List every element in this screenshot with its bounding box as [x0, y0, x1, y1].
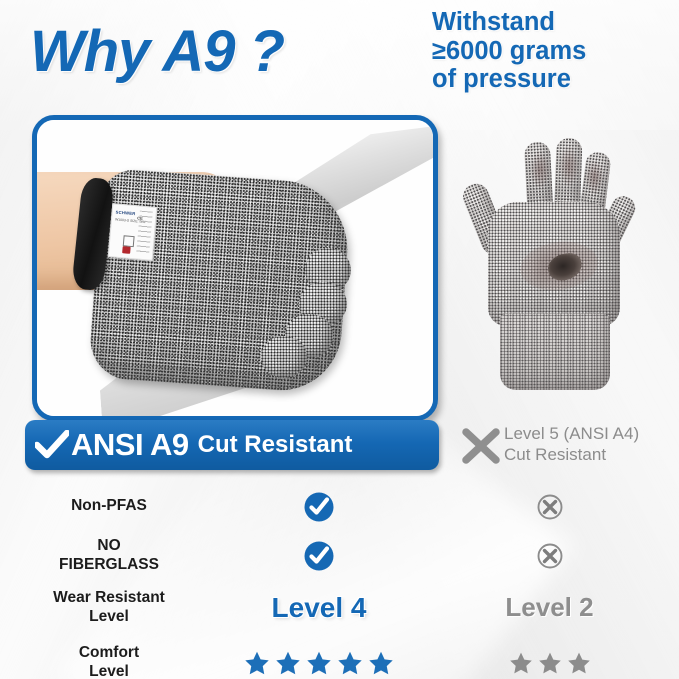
- wear-level-ours: Level 4: [272, 592, 367, 624]
- row-label: Non-PFAS: [0, 497, 218, 515]
- competitor-badge: Level 5 (ANSI A4) Cut Resistant: [460, 424, 639, 467]
- star-icon: [538, 651, 562, 675]
- certification-mark-icon: [122, 246, 131, 254]
- row-value-ours: [218, 491, 420, 523]
- withstand-line-2: ≥6000 grams: [432, 37, 678, 66]
- withstand-line-3: of pressure: [432, 65, 678, 94]
- infographic-root: Why A9 ? Withstand ≥6000 grams of pressu…: [0, 0, 679, 679]
- row-value-theirs: Level 2: [420, 592, 679, 623]
- withstand-heading: Withstand ≥6000 grams of pressure: [432, 8, 678, 94]
- row-value-ours: Level 4: [218, 592, 420, 624]
- check-icon: [35, 430, 69, 460]
- check-circle-icon: [303, 491, 335, 523]
- table-row: Wear Resistant Level Level 4 Level 2: [0, 580, 679, 635]
- row-value-ours: [218, 650, 420, 676]
- row-label-line-2: FIBERGLASS: [0, 556, 218, 574]
- row-value-theirs: [420, 542, 679, 570]
- competitor-label: Level 5 (ANSI A4) Cut Resistant: [504, 424, 639, 465]
- check-circle-icon: [303, 540, 335, 572]
- row-value-ours: [218, 540, 420, 572]
- damaged-glove-cuff: [500, 314, 610, 390]
- damaged-glove-tip-stain-1: [530, 150, 550, 190]
- row-label-line-1: Non-PFAS: [0, 497, 218, 515]
- row-label-line-2: Level: [0, 608, 218, 626]
- row-label: NO FIBERGLASS: [0, 537, 218, 574]
- row-label-line-1: NO: [0, 537, 218, 555]
- page-title: Why A9 ?: [30, 18, 284, 85]
- product-photo: SCHWER W1003-S SIZE: S/M CE: [37, 120, 433, 416]
- ansi-level-label: ANSI A9: [71, 427, 189, 463]
- damaged-glove-tip-stain-2: [559, 144, 579, 188]
- row-value-theirs: [420, 493, 679, 521]
- table-row: Non-PFAS: [0, 482, 679, 531]
- table-row: NO FIBERGLASS: [0, 531, 679, 580]
- star-icon: [306, 650, 332, 676]
- brand-name: SCHWER: [115, 209, 135, 216]
- row-label-line-2: Level: [0, 663, 218, 679]
- table-row: Comfort Level: [0, 635, 679, 679]
- star-icon: [337, 650, 363, 676]
- glove-care-label: SCHWER W1003-S SIZE: S/M CE: [108, 203, 158, 261]
- x-circle-icon: [536, 493, 564, 521]
- row-label: Comfort Level: [0, 644, 218, 679]
- star-icon: [368, 650, 394, 676]
- comparison-table: Non-PFAS NO FIBERGLASS: [0, 482, 679, 679]
- withstand-line-1: Withstand: [432, 8, 678, 37]
- star-icon: [509, 651, 533, 675]
- competitor-line-2: Cut Resistant: [504, 445, 639, 466]
- x-icon: [460, 425, 502, 467]
- row-label: Wear Resistant Level: [0, 589, 218, 626]
- row-label-line-1: Wear Resistant: [0, 589, 218, 607]
- star-icon: [567, 651, 591, 675]
- star-rating-theirs: [509, 651, 591, 675]
- ansi-cut-resistant-label: Cut Resistant: [198, 431, 353, 459]
- row-value-theirs: [420, 651, 679, 675]
- competitor-line-1: Level 5 (ANSI A4): [504, 424, 639, 445]
- damaged-glove-photo: [462, 128, 658, 396]
- star-icon: [244, 650, 270, 676]
- star-icon: [275, 650, 301, 676]
- damaged-glove-tip-stain-3: [585, 158, 604, 196]
- product-photo-frame: SCHWER W1003-S SIZE: S/M CE: [32, 115, 438, 421]
- row-label-line-1: Comfort: [0, 644, 218, 662]
- ansi-a9-badge: ANSI A9 Cut Resistant: [25, 420, 439, 470]
- wear-level-theirs: Level 2: [505, 592, 593, 623]
- star-rating-ours: [244, 650, 394, 676]
- label-text-lines: [136, 211, 153, 256]
- x-circle-icon: [536, 542, 564, 570]
- glove-finger-4: [261, 336, 307, 378]
